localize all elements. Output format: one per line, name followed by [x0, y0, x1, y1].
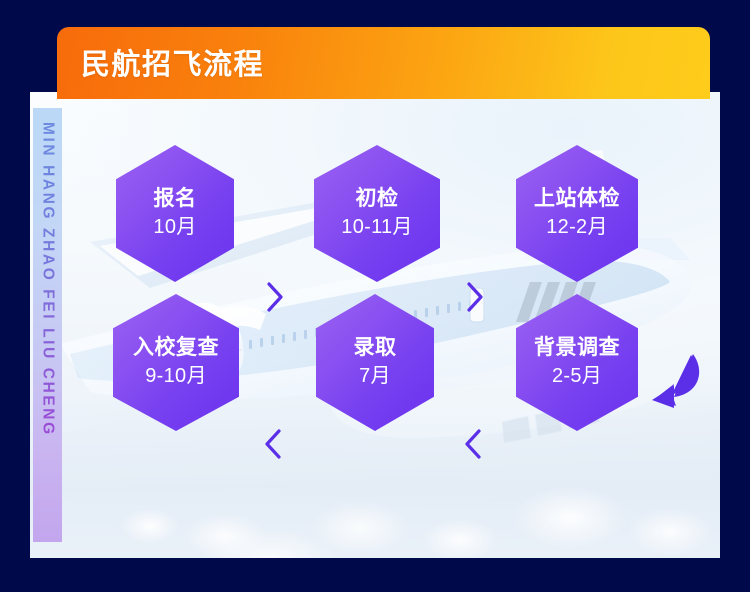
curved-arrow-down-left-icon [648, 350, 708, 408]
sidebar-pinyin-strip: MIN HANG ZHAO FEI LIU CHENG [33, 108, 62, 542]
flow-step-title: 初检 [356, 187, 399, 212]
infographic-canvas: MIN HANG ZHAO FEI LIU CHENG 民航招飞流程 报名 10… [0, 0, 750, 592]
flow-step-period: 12-2月 [546, 215, 608, 240]
sidebar-pinyin-label: MIN HANG ZHAO FEI LIU CHENG [39, 122, 57, 437]
title-banner: 民航招飞流程 [57, 27, 710, 99]
flow-step-period: 10-11月 [341, 215, 412, 240]
flow-step-period: 10月 [153, 215, 196, 240]
flow-step-title: 报名 [154, 187, 197, 212]
flow-step-period: 7月 [359, 364, 391, 389]
flow-step-period: 2-5月 [552, 364, 602, 389]
chevron-right-icon [262, 277, 288, 317]
flow-step-title: 上站体检 [534, 187, 620, 212]
flow-step-title: 入校复查 [133, 336, 219, 361]
chevron-right-icon [462, 277, 488, 317]
flow-step-title: 录取 [354, 336, 397, 361]
page-title: 民航招飞流程 [81, 41, 264, 83]
chevron-left-icon [460, 424, 486, 464]
flow-step-title: 背景调查 [534, 336, 620, 361]
flow-step-period: 9-10月 [145, 364, 207, 389]
chevron-left-icon [260, 424, 286, 464]
